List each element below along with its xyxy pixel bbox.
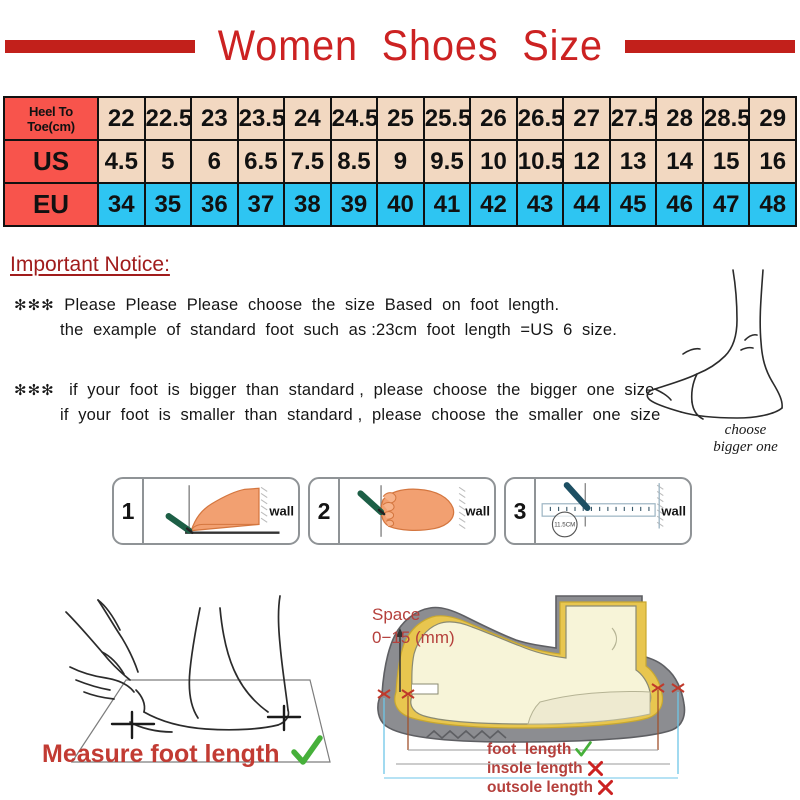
size-cell: 4.5 xyxy=(98,140,145,183)
size-cell: 10 xyxy=(470,140,517,183)
step-number: 3 xyxy=(506,479,536,543)
magnifier-value: 11.5CM xyxy=(554,521,575,528)
measurement-steps: 1 wall 2 xyxy=(112,477,692,545)
notice-group-2: ✻✻✻ if your foot is bigger than standard… xyxy=(14,378,660,428)
step-number: 2 xyxy=(310,479,340,543)
measurement-label: foot length xyxy=(487,741,571,759)
red-cross-icon xyxy=(586,759,605,778)
size-cell: 22.5 xyxy=(145,97,192,140)
table-row: US4.5566.57.58.599.51010.51213141516 xyxy=(4,140,796,183)
size-cell: 47 xyxy=(703,183,750,226)
size-cell: 14 xyxy=(656,140,703,183)
measurement-label-row: foot length xyxy=(487,740,737,759)
row-header-eu: EU xyxy=(4,183,98,226)
size-cell: 15 xyxy=(703,140,750,183)
notice-line: if your foot is smaller than standard , … xyxy=(14,403,660,428)
measurement-label-row: outsole length xyxy=(487,778,737,797)
size-cell: 23 xyxy=(191,97,238,140)
size-cell: 35 xyxy=(145,183,192,226)
cross-mark xyxy=(586,759,605,778)
size-cell: 7.5 xyxy=(284,140,331,183)
size-cell: 22 xyxy=(98,97,145,140)
measure-foot-caption: Measure foot length xyxy=(42,740,280,769)
size-cell: 43 xyxy=(517,183,564,226)
foot-sketch-caption: choose bigger one xyxy=(698,422,793,457)
title-bar-right-decoration xyxy=(625,40,795,53)
size-cell: 23.5 xyxy=(238,97,285,140)
red-cross-icon xyxy=(596,778,615,797)
size-cell: 28.5 xyxy=(703,97,750,140)
space-label: Space 0−15 (mm) xyxy=(372,604,455,650)
notice-text: if your foot is bigger than standard , p… xyxy=(69,381,654,399)
size-cell: 25 xyxy=(377,97,424,140)
size-cell: 26.5 xyxy=(517,97,564,140)
size-cell: 6.5 xyxy=(238,140,285,183)
measurement-label-row: insole length xyxy=(487,759,737,778)
step-box-2: 2 wall xyxy=(308,477,496,545)
step-illustration-foot-top: wall xyxy=(340,479,494,543)
size-cell: 9.5 xyxy=(424,140,471,183)
cross-mark xyxy=(596,778,615,797)
size-cell: 41 xyxy=(424,183,471,226)
size-cell: 25.5 xyxy=(424,97,471,140)
foot-caption-line-1: choose xyxy=(698,422,793,439)
step-illustration-foot-side: wall xyxy=(144,479,298,543)
wall-label: wall xyxy=(661,504,686,519)
size-cell: 39 xyxy=(331,183,378,226)
notice-bullet: ✻✻✻ xyxy=(14,297,55,314)
measurement-label: outsole length xyxy=(487,779,593,797)
size-cell: 40 xyxy=(377,183,424,226)
size-cell: 34 xyxy=(98,183,145,226)
size-cell: 24 xyxy=(284,97,331,140)
step-box-1: 1 wall xyxy=(112,477,300,545)
notice-text: Please Please Please choose the size Bas… xyxy=(64,296,559,314)
notice-line: ✻✻✻ Please Please Please choose the size… xyxy=(14,293,617,318)
page-title-row: Women Shoes Size xyxy=(0,18,800,74)
check-mark xyxy=(574,740,593,759)
notice-bullet: ✻✻✻ xyxy=(14,382,55,399)
size-cell: 28 xyxy=(656,97,703,140)
size-cell: 10.5 xyxy=(517,140,564,183)
size-cell: 48 xyxy=(749,183,796,226)
wall-label: wall xyxy=(269,504,294,519)
size-cell: 44 xyxy=(563,183,610,226)
size-cell: 29 xyxy=(749,97,796,140)
space-label-line-1: Space xyxy=(372,605,420,624)
size-cell: 8.5 xyxy=(331,140,378,183)
row-header-cm: Heel To Toe(cm) xyxy=(4,97,98,140)
measurement-label: insole length xyxy=(487,760,583,778)
title-bar-left-decoration xyxy=(5,40,195,53)
notice-line: the example of standard foot such as :23… xyxy=(14,318,617,343)
size-cell: 5 xyxy=(145,140,192,183)
length-labels-group: foot lengthinsole lengthoutsole length xyxy=(487,740,737,797)
step-number: 1 xyxy=(114,479,144,543)
notice-line: ✻✻✻ if your foot is bigger than standard… xyxy=(14,378,660,403)
notice-group-1: ✻✻✻ Please Please Please choose the size… xyxy=(14,293,617,343)
step-illustration-ruler: 3 11.5CM xyxy=(506,479,690,543)
table-row: Heel To Toe(cm)2222.52323.52424.52525.52… xyxy=(4,97,796,140)
size-cell: 13 xyxy=(610,140,657,183)
foot-side-sketch-icon xyxy=(645,258,800,448)
row-header-us: US xyxy=(4,140,98,183)
important-notice-heading: Important Notice: xyxy=(10,253,170,277)
size-cell: 9 xyxy=(377,140,424,183)
size-cell: 46 xyxy=(656,183,703,226)
size-cell: 24.5 xyxy=(331,97,378,140)
green-check-icon xyxy=(574,740,593,759)
size-conversion-table: Heel To Toe(cm)2222.52323.52424.52525.52… xyxy=(3,96,797,227)
size-cell: 27.5 xyxy=(610,97,657,140)
size-cell: 27 xyxy=(563,97,610,140)
size-cell: 12 xyxy=(563,140,610,183)
foot-caption-line-2: bigger one xyxy=(698,439,793,456)
step-box-3: 3 11.5CM xyxy=(504,477,692,545)
size-cell: 42 xyxy=(470,183,517,226)
green-check-icon xyxy=(290,735,324,769)
wall-label: wall xyxy=(465,504,490,519)
size-cell: 6 xyxy=(191,140,238,183)
page-title: Women Shoes Size xyxy=(212,25,608,68)
space-label-line-2: 0−15 (mm) xyxy=(372,628,455,647)
size-cell: 16 xyxy=(749,140,796,183)
size-cell: 38 xyxy=(284,183,331,226)
table-row: EU343536373839404142434445464748 xyxy=(4,183,796,226)
size-cell: 37 xyxy=(238,183,285,226)
size-cell: 45 xyxy=(610,183,657,226)
size-cell: 26 xyxy=(470,97,517,140)
size-cell: 36 xyxy=(191,183,238,226)
